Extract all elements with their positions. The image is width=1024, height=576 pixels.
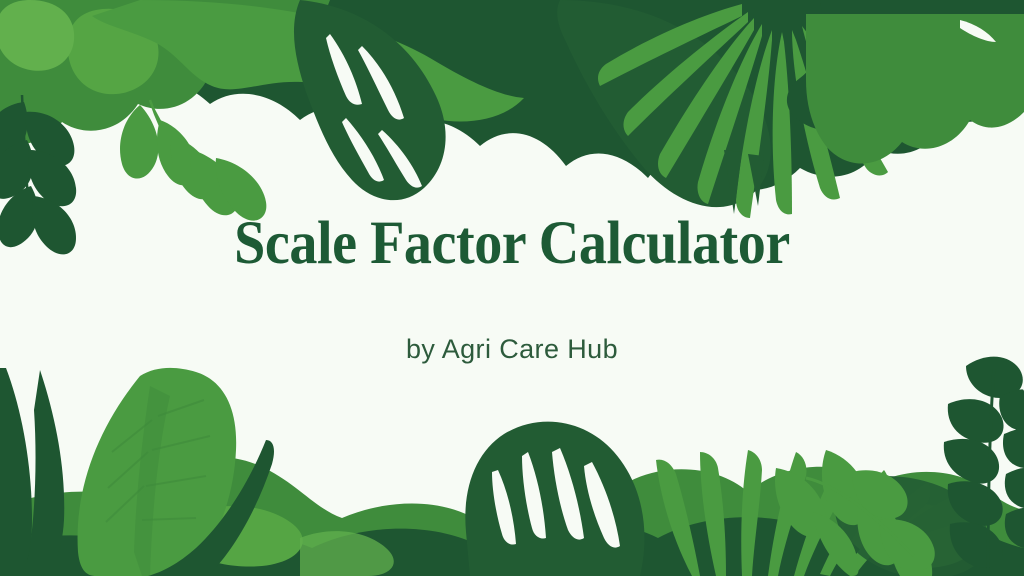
presentation-slide: Scale Factor Calculator by Agri Care Hub (0, 0, 1024, 576)
jungle-decoration-artwork (0, 0, 1024, 576)
